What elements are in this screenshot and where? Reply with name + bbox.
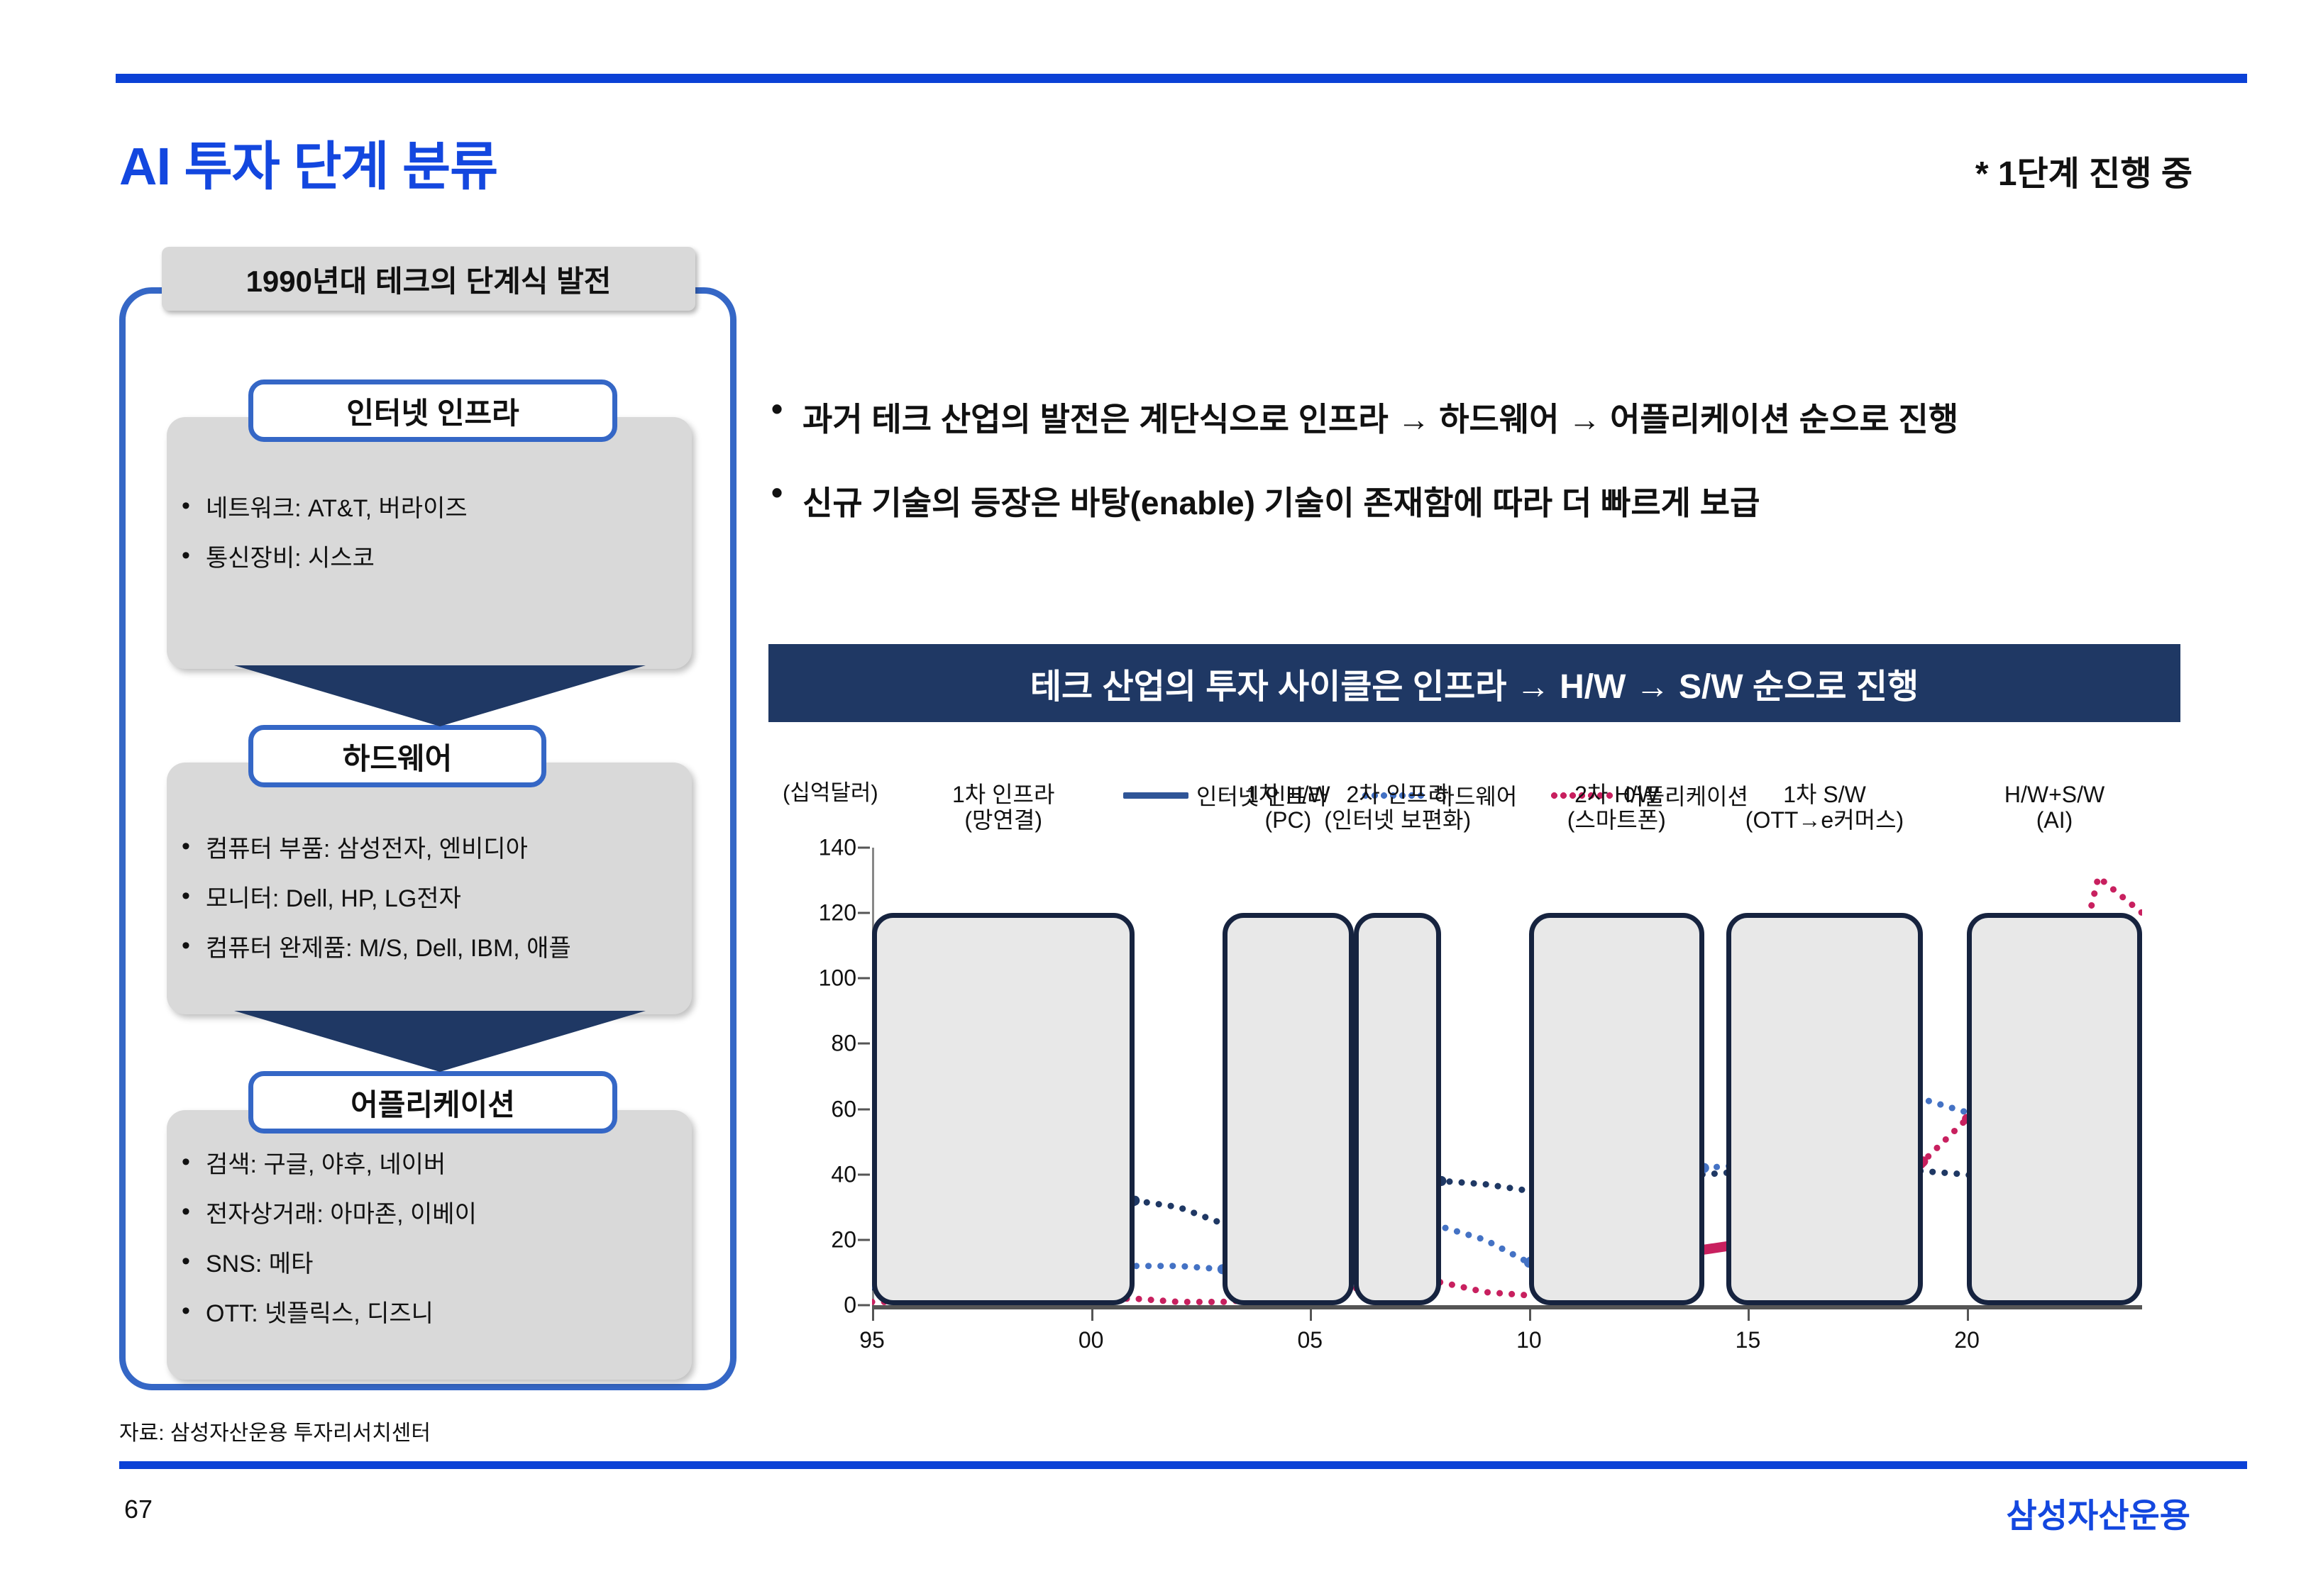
y-axis-ticks: 020406080100120140 [768, 844, 872, 1305]
y-axis-tick-label: 80 [831, 1031, 856, 1057]
x-axis-tick-label: 10 [1516, 1327, 1542, 1353]
chart-plot-area: 1차 인프라(망연결)1차 H/W(PC)2차 인프라(인터넷 보편화)2차 H… [872, 848, 2142, 1305]
y-axis-tick-mark [858, 912, 870, 914]
x-axis-tick-label: 20 [1954, 1327, 1980, 1353]
chart-banner-title: 테크 산업의 투자 사이클은 인프라 → H/W → S/W 순으로 진행 [768, 644, 2180, 722]
phase-label-line1: H/W+S/W [2004, 782, 2104, 808]
page-number: 67 [124, 1495, 153, 1524]
list-item: 전자상거래: 아마존, 이베이 [177, 1202, 477, 1226]
key-points-list: 과거 테크 산업의 발전은 계단식으로 인프라 → 하드웨어 → 어플리케이션 … [770, 394, 2189, 561]
header-top-rule [116, 74, 2247, 83]
brand-logo: 삼성자산운용 [2007, 1488, 2190, 1537]
y-axis-tick-mark [858, 1304, 870, 1307]
page-title: AI 투자 단계 분류 [119, 124, 497, 200]
y-axis-tick-label: 60 [831, 1096, 856, 1122]
x-axis-tick-label: 15 [1736, 1327, 1761, 1353]
chart-phase-box [1529, 913, 1704, 1305]
investment-cycle-chart: (십억달러) 인터넷 인프라 하드웨어 어플리케이션 0204060801001… [768, 759, 2180, 1348]
y-axis-tick-mark [858, 1238, 870, 1241]
list-item: SNS: 메타 [177, 1252, 477, 1276]
phase-label-line2: (인터넷 보편화) [1324, 808, 1471, 833]
stage-list-hardware: 컴퓨터 부품: 삼성전자, 엔비디아 모니터: Dell, HP, LG전자 컴… [177, 837, 571, 986]
x-axis-tick-mark [1748, 1305, 1750, 1321]
y-axis-tick-label: 20 [831, 1226, 856, 1253]
stage-list-application: 검색: 구글, 야후, 네이버 전자상거래: 아마존, 이베이 SNS: 메타 … [177, 1153, 477, 1351]
x-axis-tick-mark [1091, 1305, 1093, 1321]
phase-label-line1: 2차 인프라 [1324, 782, 1471, 808]
chart-phase-label: H/W+S/W(AI) [2004, 782, 2104, 833]
y-axis-tick-label: 40 [831, 1161, 856, 1187]
x-axis-tick-label: 95 [859, 1327, 885, 1353]
chart-phase-label: 2차 H/W(스마트폰) [1567, 782, 1666, 833]
key-point: 과거 테크 산업의 발전은 계단식으로 인프라 → 하드웨어 → 어플리케이션 … [770, 394, 2189, 440]
header-note: * 1단계 진행 중 [1975, 145, 2192, 195]
x-axis-tick-mark [872, 1305, 874, 1321]
chart-phase-box [1354, 913, 1441, 1305]
y-axis-tick-label: 100 [819, 965, 856, 992]
list-item: 통신장비: 시스코 [177, 546, 468, 570]
chart-phase-box [1726, 913, 1924, 1305]
chart-phase-box [1967, 913, 2142, 1305]
y-axis-tick-mark [858, 1043, 870, 1045]
x-axis-tick-mark [1310, 1305, 1312, 1321]
phase-label-line1: 1차 H/W [1246, 782, 1330, 808]
list-item: 컴퓨터 완제품: M/S, Dell, IBM, 애플 [177, 936, 571, 960]
list-item: 컴퓨터 부품: 삼성전자, 엔비디아 [177, 837, 571, 861]
phase-label-line2: (망연결) [952, 808, 1054, 833]
x-axis-line [872, 1305, 2142, 1309]
list-item: OTT: 넷플릭스, 디즈니 [177, 1302, 477, 1326]
chart-phase-box [872, 913, 1135, 1305]
list-item: 검색: 구글, 야후, 네이버 [177, 1153, 477, 1177]
phase-label-line2: (AI) [2004, 808, 2104, 833]
chart-phase-label: 1차 S/W(OTT→e커머스) [1745, 782, 1904, 833]
stage-chip-infra: 인터넷 인프라 [248, 379, 617, 442]
phase-label-line1: 2차 H/W [1567, 782, 1666, 808]
chart-phase-label: 2차 인프라(인터넷 보편화) [1324, 782, 1471, 833]
chart-phase-label: 1차 인프라(망연결) [952, 782, 1054, 833]
legend-swatch-infra [1123, 792, 1188, 799]
y-axis-tick-mark [858, 1108, 870, 1110]
x-axis-tick-label: 05 [1297, 1327, 1323, 1353]
y-axis-tick-label: 140 [819, 835, 856, 861]
list-item: 네트워크: AT&T, 버라이즈 [177, 497, 468, 521]
footer-rule [119, 1461, 2247, 1469]
y-axis-tick-mark [858, 1173, 870, 1175]
y-axis-tick-mark [858, 977, 870, 980]
stage-chip-application: 어플리케이션 [248, 1071, 617, 1134]
phase-label-line1: 1차 인프라 [952, 782, 1054, 808]
phase-label-line2: (OTT→e커머스) [1745, 808, 1904, 833]
chart-phase-label: 1차 H/W(PC) [1246, 782, 1330, 833]
arrow-down-icon [234, 665, 646, 726]
phase-label-line2: (스마트폰) [1567, 808, 1666, 833]
y-axis-tick-mark [858, 847, 870, 849]
x-axis-tick-mark [1967, 1305, 1969, 1321]
left-panel-title: 1990년대 테크의 단계식 발전 [162, 247, 695, 311]
x-axis-tick-mark [1529, 1305, 1531, 1321]
x-axis-tick-label: 00 [1078, 1327, 1104, 1353]
chart-unit-label: (십억달러) [783, 775, 878, 807]
stage-list-infra: 네트워크: AT&T, 버라이즈 통신장비: 시스코 [177, 497, 468, 596]
key-point: 신규 기술의 등장은 바탕(enable) 기술이 존재함에 따라 더 빠르게 … [770, 477, 2189, 524]
arrow-down-icon [234, 1011, 646, 1072]
stage-chip-hardware: 하드웨어 [248, 725, 546, 787]
source-note: 자료: 삼성자산운용 투자리서치센터 [119, 1415, 431, 1446]
y-axis-tick-label: 120 [819, 900, 856, 926]
list-item: 모니터: Dell, HP, LG전자 [177, 887, 571, 911]
chart-phase-box [1223, 913, 1354, 1305]
phase-label-line2: (PC) [1246, 808, 1330, 833]
phase-label-line1: 1차 S/W [1745, 782, 1904, 808]
y-axis-tick-label: 0 [844, 1292, 856, 1319]
